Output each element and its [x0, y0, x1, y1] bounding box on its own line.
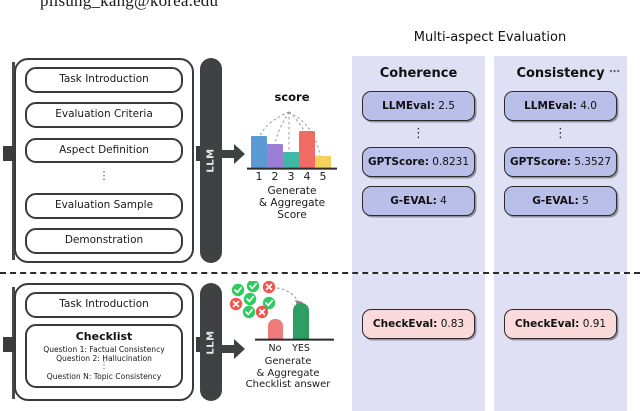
checklist-title: Checklist — [31, 330, 177, 343]
metric-name: GPTScore: — [510, 156, 571, 168]
llm-module-top: LLM — [200, 58, 222, 263]
score-chart-title: score — [240, 90, 344, 104]
checklist-prompt-box: Task Introduction Checklist Question 1: … — [14, 283, 194, 401]
metric-value: 5.3527 — [574, 156, 611, 168]
aspect-title-consistency: Consistency ⋯ — [494, 56, 627, 81]
prompt-item-aspect-definition: Aspect Definition — [25, 138, 183, 164]
author-email: pilsung_kang@korea.edu — [40, 0, 300, 11]
spacer — [362, 177, 475, 186]
llm-label-bottom: LLM — [206, 330, 217, 354]
checklist-caption-line-1: Generate — [228, 356, 348, 368]
metric-llmeval-consistency: LLMEval: 4.0 — [504, 91, 617, 121]
checklist-question-n: Question N: Topic Consistency — [31, 372, 177, 381]
aspect-panel-consistency: Consistency ⋯ LLMEval: 4.0 GPTScore: 5.3… — [494, 56, 627, 272]
more-aspects-ellipsis-icon: ⋯ — [609, 65, 621, 78]
bar-label-no: No — [269, 343, 282, 353]
metric-value: 4 — [440, 195, 447, 207]
checklist-caption-line-2: & Aggregate — [228, 368, 348, 380]
svg-text:3: 3 — [288, 170, 295, 182]
prompt-item-task-introduction-bottom: Task Introduction — [25, 292, 183, 318]
metric-name: CheckEval: — [373, 318, 437, 330]
spacer — [504, 177, 617, 186]
svg-text:1: 1 — [256, 170, 263, 182]
metric-value: 0.83 — [441, 318, 464, 330]
prompt-item-demonstration: Demonstration — [25, 228, 183, 254]
checklist-chart-caption: Generate & Aggregate Checklist answer — [228, 356, 348, 391]
metric-name: CheckEval: — [515, 318, 579, 330]
checklist-questions-ellipsis — [31, 364, 177, 372]
svg-text:5: 5 — [320, 170, 327, 182]
checklist-answer-chart: No YES — [229, 281, 347, 353]
checklist-question-1: Question 1: Factual Consistency — [31, 345, 177, 354]
metric-name: GPTScore: — [368, 156, 429, 168]
metric-checkeval-consistency: CheckEval: 0.91 — [504, 309, 617, 339]
metric-name: G-EVAL: — [532, 195, 579, 207]
checklist-block: Checklist Question 1: Factual Consistenc… — [25, 324, 183, 388]
metric-value: 2.5 — [438, 100, 455, 112]
score-caption-line-1: Generate — [240, 185, 344, 197]
metric-value: 5 — [582, 195, 589, 207]
metric-checkeval-coherence: CheckEval: 0.83 — [362, 309, 475, 339]
metric-geval-consistency: G-EVAL: 5 — [504, 186, 617, 216]
metric-value: 0.8231 — [432, 156, 469, 168]
metric-value: 0.91 — [583, 318, 606, 330]
metric-ellipsis-coherence — [362, 121, 475, 147]
prompt-item-evaluation-sample: Evaluation Sample — [25, 193, 183, 219]
score-caption-line-2: & Aggregate — [240, 197, 344, 209]
metric-name: G-EVAL: — [390, 195, 437, 207]
prompt-items-ellipsis — [25, 173, 183, 183]
prompt-item-evaluation-criteria: Evaluation Criteria — [25, 102, 183, 128]
aspect-title-text: Consistency — [516, 66, 604, 81]
bar-label-yes: YES — [291, 343, 310, 353]
checklist-caption-line-3: Checklist answer — [228, 379, 348, 391]
score-chart-group: score 1 2 3 4 5 — [240, 90, 344, 222]
svg-text:2: 2 — [272, 170, 279, 182]
llm-label-top: LLM — [206, 148, 217, 172]
score-chart-caption: Generate & Aggregate Score — [240, 185, 344, 222]
metric-name: LLMEval: — [524, 100, 577, 112]
metric-value: 4.0 — [580, 100, 597, 112]
checkeval-panel-coherence: CheckEval: 0.83 — [352, 274, 485, 411]
llm-module-bottom: LLM — [200, 283, 222, 401]
metric-ellipsis-consistency — [504, 121, 617, 147]
svg-text:4: 4 — [304, 170, 311, 182]
metric-gptscore-coherence: GPTScore: 0.8231 — [362, 147, 475, 177]
metric-llmeval-coherence: LLMEval: 2.5 — [362, 91, 475, 121]
checklist-chart-group: No YES Generate & Aggregate Checklist an… — [228, 281, 348, 391]
checkeval-panel-consistency: CheckEval: 0.91 — [494, 274, 627, 411]
aspect-title-coherence: Coherence — [352, 56, 485, 81]
multi-aspect-evaluation-title: Multi-aspect Evaluation — [350, 30, 630, 45]
prompt-components-box: Task Introduction Evaluation Criteria As… — [14, 58, 194, 263]
figure-canvas: pilsung_kang@korea.edu Task Introduction… — [0, 0, 640, 411]
check-mark-cluster — [230, 281, 275, 318]
metric-name: LLMEval: — [382, 100, 435, 112]
metric-gptscore-consistency: GPTScore: 5.3527 — [504, 147, 617, 177]
score-bar-chart: 1 2 3 4 5 — [242, 106, 342, 182]
aspect-panel-coherence: Coherence LLMEval: 2.5 GPTScore: 0.8231 … — [352, 56, 485, 272]
score-caption-line-3: Score — [240, 209, 344, 221]
metric-geval-coherence: G-EVAL: 4 — [362, 186, 475, 216]
prompt-item-task-introduction: Task Introduction — [25, 67, 183, 93]
